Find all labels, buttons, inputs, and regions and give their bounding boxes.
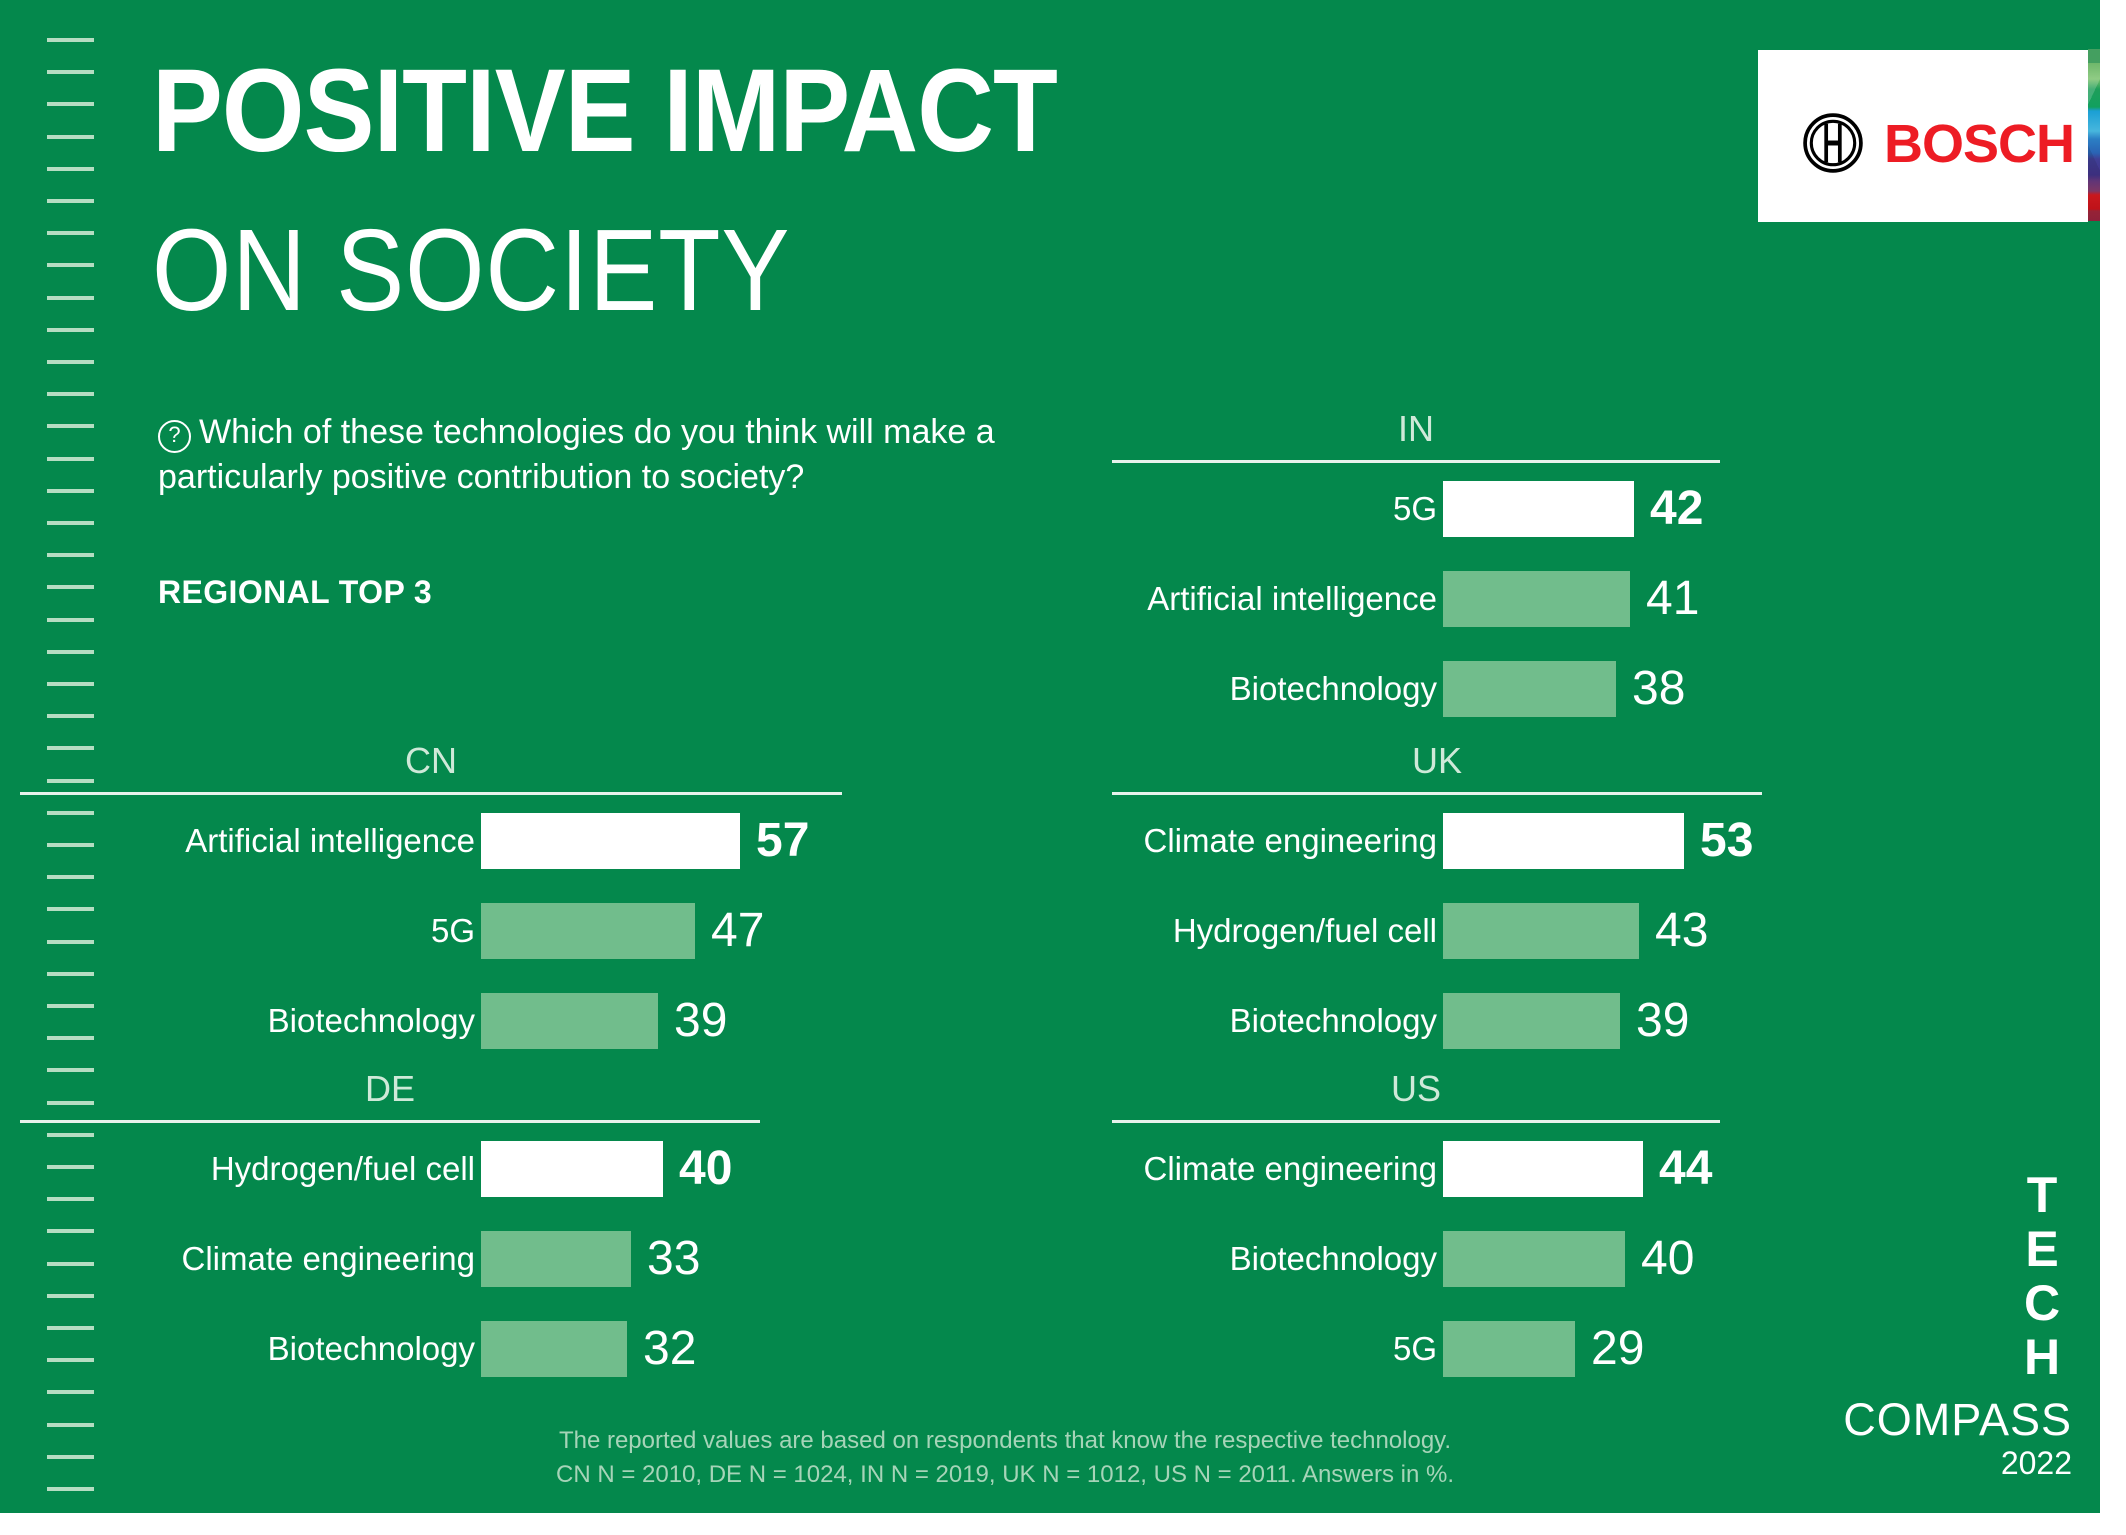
bar-value: 40 bbox=[1641, 1214, 1694, 1304]
panel-divider bbox=[1112, 792, 1762, 795]
bar-value: 57 bbox=[756, 796, 809, 886]
bar bbox=[1443, 903, 1639, 959]
page-title-line2: ON SOCIETY bbox=[152, 212, 790, 328]
bar bbox=[1443, 481, 1634, 537]
bar-rows: 5G42Artificial intelligence41Biotechnolo… bbox=[1112, 464, 1952, 734]
bar-value: 47 bbox=[711, 886, 764, 976]
bar bbox=[1443, 1321, 1575, 1377]
bar-value: 53 bbox=[1700, 796, 1753, 886]
ruler-tick bbox=[47, 521, 94, 525]
panel-divider bbox=[1112, 460, 1720, 463]
bar-value: 39 bbox=[1636, 976, 1689, 1066]
bar bbox=[481, 1141, 663, 1197]
ruler-tick bbox=[47, 102, 94, 106]
ruler-tick bbox=[47, 553, 94, 557]
ruler-tick bbox=[47, 682, 94, 686]
bar bbox=[481, 1321, 627, 1377]
bar-rows: Climate engineering53Hydrogen/fuel cell4… bbox=[1112, 796, 1952, 1066]
bosch-logo: BOSCH bbox=[1758, 50, 2088, 222]
tech-letter: C bbox=[2014, 1276, 2070, 1330]
ruler-tick bbox=[47, 424, 94, 428]
section-subtitle: REGIONAL TOP 3 bbox=[158, 574, 432, 611]
bar bbox=[1443, 993, 1620, 1049]
bar bbox=[481, 993, 658, 1049]
ruler-tick bbox=[47, 263, 94, 267]
bar-rows: Hydrogen/fuel cell40Climate engineering3… bbox=[20, 1124, 860, 1394]
tech-letter: T bbox=[2014, 1168, 2070, 1222]
bar-category-label: Artificial intelligence bbox=[20, 796, 475, 886]
bar-row: 5G47 bbox=[20, 886, 860, 976]
bar-value: 29 bbox=[1591, 1304, 1644, 1394]
footnote-line-1: The reported values are based on respond… bbox=[0, 1424, 2010, 1458]
ruler-tick bbox=[47, 585, 94, 589]
footnote: The reported values are based on respond… bbox=[0, 1424, 2010, 1492]
bar-category-label: Artificial intelligence bbox=[1112, 554, 1437, 644]
question-circle-icon: ? bbox=[158, 420, 191, 453]
bar-value: 40 bbox=[679, 1124, 732, 1214]
ruler-tick bbox=[47, 360, 94, 364]
bar-category-label: Climate engineering bbox=[1112, 1124, 1437, 1214]
tech-letter: H bbox=[2014, 1330, 2070, 1384]
region-label-in: IN bbox=[1112, 408, 1720, 450]
ruler-tick bbox=[47, 650, 94, 654]
page-title-line1: POSITIVE IMPACT bbox=[152, 52, 1057, 170]
bar bbox=[1443, 1141, 1643, 1197]
ruler-tick bbox=[47, 714, 94, 718]
bar-category-label: 5G bbox=[1112, 1304, 1437, 1394]
tech-compass-year: 2022 bbox=[1810, 1446, 2072, 1480]
region-label-cn: CN bbox=[20, 740, 842, 782]
survey-question: ?Which of these technologies do you thin… bbox=[158, 410, 1038, 500]
bar-row: Artificial intelligence41 bbox=[1112, 554, 1952, 644]
ruler-tick bbox=[47, 296, 94, 300]
bar-row: Biotechnology39 bbox=[20, 976, 860, 1066]
ruler-tick bbox=[47, 489, 94, 493]
bar-category-label: 5G bbox=[20, 886, 475, 976]
frame-right-margin bbox=[2100, 0, 2126, 1535]
bar-row: Biotechnology38 bbox=[1112, 644, 1952, 734]
ruler-tick bbox=[47, 618, 94, 622]
bar-value: 43 bbox=[1655, 886, 1708, 976]
bosch-anchor-icon bbox=[1802, 112, 1864, 174]
region-label-uk: UK bbox=[1112, 740, 1762, 782]
bar-category-label: 5G bbox=[1112, 464, 1437, 554]
tech-compass-tech-word: TECH bbox=[2014, 1168, 2070, 1384]
bar-value: 32 bbox=[643, 1304, 696, 1394]
bar bbox=[1443, 571, 1630, 627]
ruler-tick bbox=[47, 135, 94, 139]
frame-bottom-margin bbox=[0, 1513, 2126, 1535]
ruler-tick bbox=[47, 70, 94, 74]
bar-value: 33 bbox=[647, 1214, 700, 1304]
panel-divider bbox=[1112, 1120, 1720, 1123]
bar-value: 42 bbox=[1650, 464, 1703, 554]
ruler-tick bbox=[47, 231, 94, 235]
ruler-tick bbox=[47, 457, 94, 461]
bar-rows: Artificial intelligence575G47Biotechnolo… bbox=[20, 796, 860, 1066]
bar-row: Climate engineering33 bbox=[20, 1214, 860, 1304]
bar bbox=[481, 813, 740, 869]
bar bbox=[1443, 813, 1684, 869]
bar-row: Climate engineering53 bbox=[1112, 796, 1952, 886]
ruler-tick bbox=[47, 328, 94, 332]
bar-value: 41 bbox=[1646, 554, 1699, 644]
panel-divider bbox=[20, 792, 842, 795]
bar-category-label: Hydrogen/fuel cell bbox=[20, 1124, 475, 1214]
bar-value: 38 bbox=[1632, 644, 1685, 734]
bar-value: 44 bbox=[1659, 1124, 1712, 1214]
bar-row: Hydrogen/fuel cell40 bbox=[20, 1124, 860, 1214]
bar-row: Biotechnology39 bbox=[1112, 976, 1952, 1066]
bar-category-label: Biotechnology bbox=[1112, 976, 1437, 1066]
bar-category-label: Biotechnology bbox=[1112, 644, 1437, 734]
bar bbox=[481, 903, 695, 959]
bar-category-label: Biotechnology bbox=[1112, 1214, 1437, 1304]
bar-row: Biotechnology32 bbox=[20, 1304, 860, 1394]
tech-letter: E bbox=[2014, 1222, 2070, 1276]
tech-compass-compass-word: COMPASS bbox=[1810, 1396, 2072, 1444]
ruler-tick bbox=[47, 392, 94, 396]
panel-divider bbox=[20, 1120, 760, 1123]
region-label-de: DE bbox=[20, 1068, 760, 1110]
bar-category-label: Biotechnology bbox=[20, 976, 475, 1066]
tech-compass-logo: TECH COMPASS 2022 bbox=[1810, 1168, 2072, 1458]
ruler-tick bbox=[47, 167, 94, 171]
bar-category-label: Climate engineering bbox=[20, 1214, 475, 1304]
ruler-tick bbox=[47, 38, 94, 42]
bar bbox=[481, 1231, 631, 1287]
ruler-tick bbox=[47, 199, 94, 203]
survey-question-text: Which of these technologies do you think… bbox=[158, 413, 995, 496]
bar-value: 39 bbox=[674, 976, 727, 1066]
bar bbox=[1443, 1231, 1625, 1287]
bar-category-label: Biotechnology bbox=[20, 1304, 475, 1394]
bar-row: Artificial intelligence57 bbox=[20, 796, 860, 886]
bar-row: Hydrogen/fuel cell43 bbox=[1112, 886, 1952, 976]
bar-row: 5G42 bbox=[1112, 464, 1952, 554]
bosch-wordmark: BOSCH bbox=[1884, 116, 2074, 172]
region-label-us: US bbox=[1112, 1068, 1720, 1110]
bar-category-label: Hydrogen/fuel cell bbox=[1112, 886, 1437, 976]
infographic-poster: POSITIVE IMPACT ON SOCIETY ?Which of the… bbox=[0, 0, 2126, 1535]
bar-category-label: Climate engineering bbox=[1112, 796, 1437, 886]
bar bbox=[1443, 661, 1616, 717]
footnote-line-2: CN N = 2010, DE N = 1024, IN N = 2019, U… bbox=[0, 1458, 2010, 1492]
